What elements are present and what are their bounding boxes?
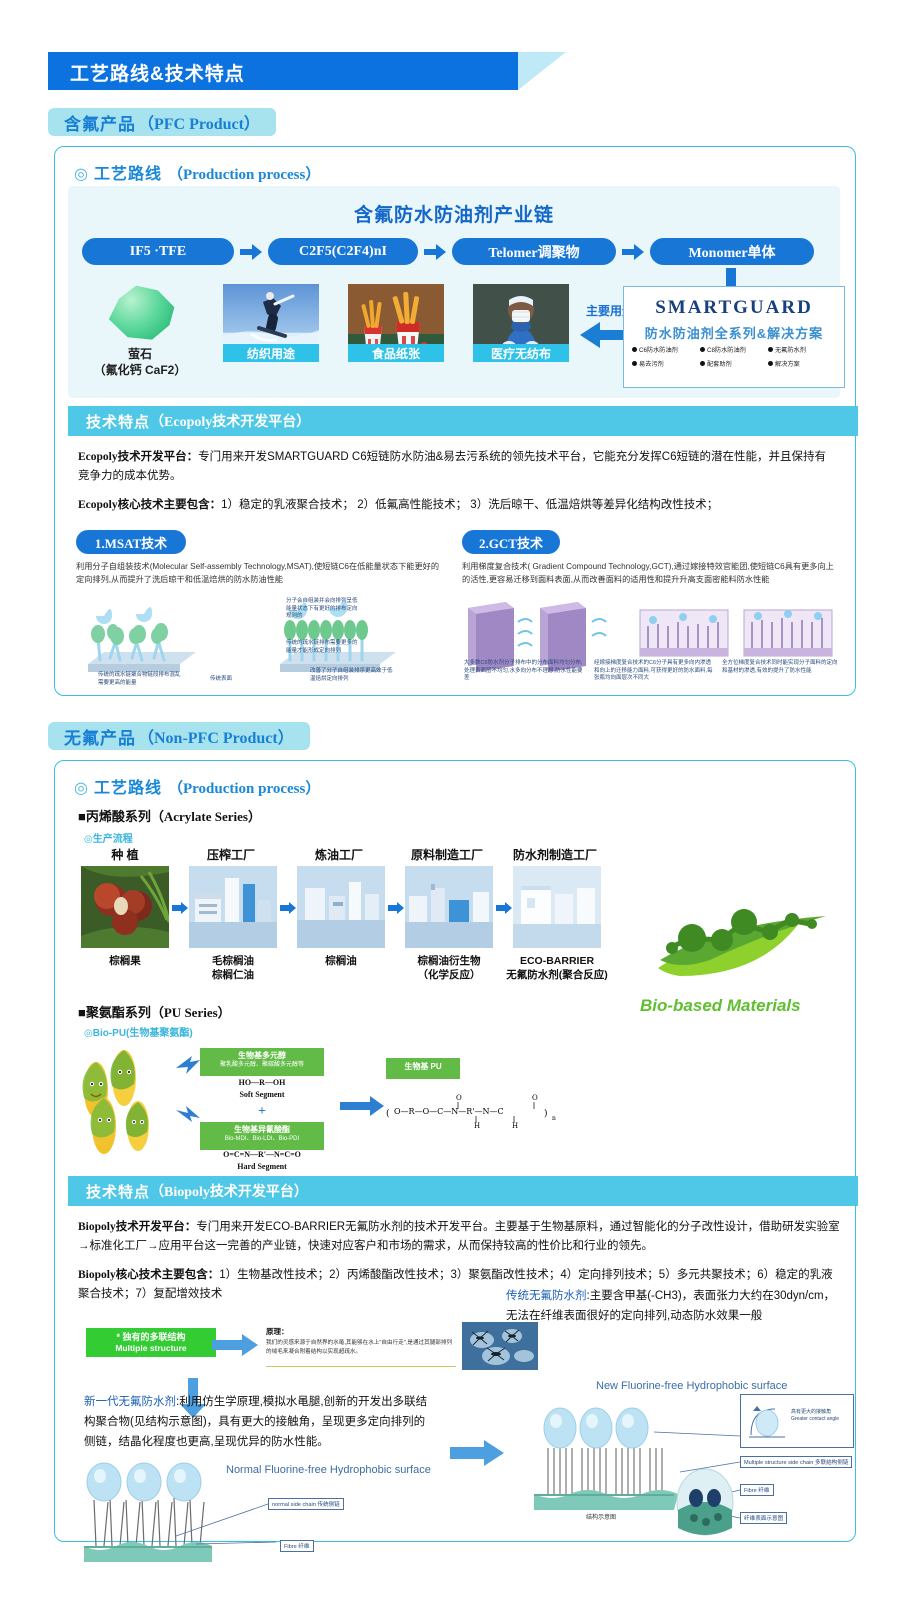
pu-green-box-isocyanate-title: 生物基异氰酸酯 <box>200 1124 324 1135</box>
multiple-structure-badge: * 独有的多联结构 Multiple structure <box>86 1328 216 1357</box>
use-tile-textile[interactable]: 纺织用途 <box>223 284 319 362</box>
svg-text:n: n <box>552 1115 556 1122</box>
raw-material-factory-photo <box>405 866 493 948</box>
stage-arrow-2-icon <box>280 902 296 914</box>
pu-green-box-polyol: 生物基多元醇 聚乳酸多元醇、聚碳酸多元醇等 <box>200 1048 324 1076</box>
biopoly-strip-header: 技术特点 （Biopoly技术开发平台） <box>68 1176 858 1206</box>
poster-page: 工艺路线&技术特点 含氟产品 （PFC Product） ◎ 工艺路线 （Pro… <box>0 0 908 1600</box>
msat-pill[interactable]: 1.MSAT技术 <box>76 530 186 554</box>
msat-description: 利用分子自组装技术(Molecular Self-assembly Techno… <box>76 560 446 586</box>
section-pill-pfc: 含氟产品 （PFC Product） <box>48 108 276 136</box>
smartguard-title: SMARTGUARD <box>624 297 844 319</box>
svg-text:): ) <box>544 1108 548 1119</box>
stage-arrow-3-icon <box>388 902 404 914</box>
smartguard-item-label: 无氟防水剂 <box>775 345 806 354</box>
pfc-process-heading-en: （Production process） <box>168 163 320 184</box>
smartguard-box: SMARTGUARD 防水防油剂全系列&解决方案 C6防水防油剂 C8防水防油剂… <box>623 286 845 388</box>
stage-image-raw-material-factory <box>405 866 493 948</box>
new-surface-label: New Fluorine-free Hydrophobic surface <box>596 1380 787 1392</box>
palm-fruit-photo <box>81 866 169 948</box>
section-pill-nonpfc-en: （Non-PFC Product） <box>138 724 294 748</box>
flow-arrow-1-icon <box>240 244 262 260</box>
flow-step-3[interactable]: Telomer调聚物 <box>452 238 616 265</box>
gct-annot-2: 经嫁接梯度复合技术的C6分子具有更多向内渗透和向上的迁移能力面料,可获得更好的防… <box>594 660 714 683</box>
smartguard-item: C8防水防油剂 <box>700 345 768 354</box>
traditional-agent-text: 传统无氟防水剂:主要含甲基(-CH3)，表面张力大约在30dyn/cm，无法在纤… <box>506 1286 836 1326</box>
nonpfc-process-heading-en: （Production process） <box>168 777 320 798</box>
traditional-agent-title: 传统无氟防水剂 <box>506 1290 587 1302</box>
pfc-process-box: 含氟防水防油剂产业链 IF5 ·TFE C2F5(C2F4)nI Telomer… <box>68 186 840 398</box>
flow-step-1[interactable]: IF5 ·TFE <box>82 238 234 265</box>
stage-image-press-factory <box>189 866 277 948</box>
use-tile-medical-caption: 医疗无纺布 <box>473 344 569 362</box>
smartguard-item: 配套助剂 <box>700 359 768 368</box>
biopoly-paragraph-1: Biopoly技术开发平台：专门用来开发ECO-BARRIER无氟防水剂的技术开… <box>78 1218 842 1256</box>
smartguard-item: 易去污剂 <box>632 359 700 368</box>
smartguard-item-label: 配套助剂 <box>707 359 732 368</box>
refinery-photo <box>297 866 385 948</box>
acrylate-heading: ■丙烯酸系列（Acrylate Series） <box>78 806 261 825</box>
normal-side-chain-label: normal side chain 传统侧链 <box>268 1498 344 1510</box>
svg-text:(: ( <box>386 1108 390 1119</box>
pu-heading-cn: ■聚氨酯系列 <box>78 1005 151 1020</box>
flow-step-4[interactable]: Monomer单体 <box>650 238 814 265</box>
normal-surface-connectors <box>176 1492 276 1546</box>
pu-hard-formula: O=C=N—R'—N=C=O <box>186 1150 338 1159</box>
acrylate-heading-en: （Acrylate Series） <box>151 809 261 824</box>
pu-arrow-3-icon <box>340 1096 384 1116</box>
svg-text:O—R—O—C—N—R'—N—C: O—R—O—C—N—R'—N—C <box>394 1107 504 1116</box>
ecopoly-paragraph-1-bold: Ecopoly技术开发平台： <box>78 451 198 463</box>
gct-annot-3: 全方位梯度复合技术同时能实现分子面料的定向和基材的渗透,有效的提升了防水性能 <box>722 660 840 675</box>
nonpfc-process-heading: ◎ 工艺路线 （Production process） <box>74 774 320 798</box>
stage-caption-2-line2: 棕榈仁油 <box>173 968 293 982</box>
stage-arrow-4-icon <box>496 902 512 914</box>
section-pill-pfc-en: （PFC Product） <box>138 110 260 134</box>
chain-title: 含氟防水防油剂产业链 <box>68 200 840 227</box>
use-tile-food-caption: 食品纸张 <box>348 344 444 362</box>
contact-angle-icon <box>747 1401 787 1439</box>
stage-caption-5-line2: 无氟防水剂(聚合反应) <box>492 968 622 982</box>
smartguard-item: 无氟防水剂 <box>768 345 836 354</box>
multi-side-chain-label: Multiple structure side chain 多联结构侧链 <box>740 1456 852 1468</box>
smartguard-item-list: C6防水防油剂 C8防水防油剂 无氟防水剂 易去污剂 配套助剂 解决方案 <box>632 345 836 373</box>
pu-plus-sign: + <box>200 1104 324 1120</box>
use-tile-medical[interactable]: 医疗无纺布 <box>473 284 569 362</box>
smartguard-item-label: C6防水防油剂 <box>639 345 678 354</box>
msat-annot-mid-bottom: 传统表面 <box>210 676 260 684</box>
page-banner: 工艺路线&技术特点 <box>48 52 518 90</box>
ecopoly-paragraph-2-body: 1）稳定的乳液聚合技术； 2）低氟高性能技术； 3）洗后晾干、低温焙烘等差异化结… <box>221 499 718 511</box>
stage-label-5: 防水剂制造工厂 <box>500 846 610 863</box>
waterproof-factory-photo <box>513 866 601 948</box>
fibre-surface-micrograph <box>676 1468 734 1536</box>
stage-caption-1-line1: 棕榈果 <box>65 954 185 968</box>
ecopoly-strip-cn: 技术特点 <box>86 411 150 432</box>
flow-step-2[interactable]: C2F5(C2F4)nI <box>268 238 418 265</box>
ecopoly-strip-header: 技术特点 （Ecopoly技术开发平台） <box>68 406 858 436</box>
stage-caption-2-line1: 毛棕榈油 <box>173 954 293 968</box>
stage-caption-3-line1: 棕榈油 <box>281 954 401 968</box>
stage-label-3: 炼油工厂 <box>284 846 394 863</box>
contact-angle-callout: 高有更大的接触角 Greater contact angle <box>740 1394 854 1448</box>
principle-body: 我们的灵感来源于自然界的水黾,其能够在水上"自由行走",是通过其腿部排列的绒毛来… <box>266 1339 456 1356</box>
use-tile-food[interactable]: 食品纸张 <box>348 284 444 362</box>
pu-green-box-biopu-title: 生物基 PU <box>386 1061 460 1072</box>
fluorite-label-line1: 萤石 <box>70 346 210 362</box>
nonpfc-process-heading-cn: 工艺路线 <box>94 774 162 798</box>
ring-icon: ◎ <box>74 778 88 798</box>
pu-heading-en: （PU Series） <box>151 1005 231 1020</box>
use-tile-textile-caption: 纺织用途 <box>223 344 319 362</box>
section-pill-pfc-cn: 含氟产品 <box>64 110 136 135</box>
structure-diagram-label: 结构示意图 <box>586 1512 616 1521</box>
stage-caption-5-line1: ECO-BARRIER <box>497 954 617 968</box>
pu-green-box-biopu: 生物基 PU <box>386 1058 460 1079</box>
biopoly-strip-en: （Biopoly技术开发平台） <box>150 1181 308 1201</box>
stage-caption-4-line1: 棕榈油衍生物 <box>389 954 509 968</box>
bio-based-logo-icon <box>650 880 850 990</box>
stage-label-4: 原料制造工厂 <box>392 846 502 863</box>
acrylate-subheading: ◎生产流程 <box>84 830 133 845</box>
surface-compare-arrow-icon <box>450 1440 504 1466</box>
smartguard-subtitle: 防水防油剂全系列&解决方案 <box>624 323 844 342</box>
pu-arrow-1-icon <box>176 1054 200 1074</box>
pu-green-box-isocyanate: 生物基异氰酸酯 Bio-MDI、Bio-LDI、Bio-PDI <box>200 1122 324 1150</box>
pu-green-box-polyol-sub: 聚乳酸多元醇、聚碳酸多元醇等 <box>200 1061 324 1070</box>
principle-arrow-icon <box>212 1334 258 1356</box>
fluorite-mineral-image <box>106 282 178 342</box>
smartguard-item: 解决方案 <box>768 359 836 368</box>
stage-image-refinery <box>297 866 385 948</box>
msat-annot-left-bottom: 传统的疏水链聚合物链段排布混乱需要更高的能量 <box>98 672 182 687</box>
stage-image-waterproof-factory <box>513 866 601 948</box>
biopoly-strip-cn: 技术特点 <box>86 1181 150 1202</box>
principle-underline <box>266 1366 456 1367</box>
flow-arrow-3-icon <box>622 244 644 260</box>
principle-block: 原理： 我们的灵感来源于自然界的水黾,其能够在水上"自由行走",是通过其腿部排列… <box>266 1326 456 1356</box>
gct-annot-1: 大多数C6防水剂分子排布中的分布面料均匀分布,处理表面层不均匀,水多向分布不理想… <box>464 660 584 683</box>
pu-green-box-isocyanate-sub: Bio-MDI、Bio-LDI、Bio-PDI <box>200 1135 324 1144</box>
multiple-structure-badge-line2: Multiple structure <box>92 1343 210 1354</box>
pfc-process-heading: ◎ 工艺路线 （Production process） <box>74 160 320 184</box>
stage-label-1: 种 植 <box>70 846 180 863</box>
biopoly-paragraph-1-bold: Biopoly技术开发平台： <box>78 1221 196 1233</box>
ecopoly-paragraph-1: Ecopoly技术开发平台：专门用来开发SMARTGUARD C6短链防水防油&… <box>78 448 834 486</box>
fluorite-label-line2: （氟化钙 CaF2） <box>70 362 210 378</box>
smartguard-item-label: C8防水防油剂 <box>707 345 746 354</box>
stage-image-palm-fruit <box>81 866 169 948</box>
section-pill-nonpfc: 无氟产品 （Non-PFC Product） <box>48 722 310 750</box>
stage-label-2: 压榨工厂 <box>176 846 286 863</box>
pu-soft-formula: HO—R—OH <box>200 1078 324 1087</box>
smartguard-item-label: 易去污剂 <box>639 359 664 368</box>
new-generation-title: 新一代无氟防水剂 <box>84 1396 176 1408</box>
stage-caption-4-line2: （化学反应） <box>389 968 509 982</box>
water-strider-photo <box>462 1322 538 1370</box>
ecopoly-strip-en: （Ecopoly技术开发平台） <box>150 411 310 431</box>
ecopoly-paragraph-2-bold: Ecopoly核心技术主要包含： <box>78 499 221 511</box>
contact-angle-label-line2: Greater contact angle <box>791 1416 839 1423</box>
contact-angle-label-line1: 高有更大的接触角 <box>791 1409 839 1416</box>
svg-text:H: H <box>512 1122 518 1130</box>
principle-title: 原理： <box>266 1326 456 1337</box>
smartguard-item-label: 解决方案 <box>775 359 800 368</box>
page-title: 工艺路线&技术特点 <box>70 59 245 86</box>
multiple-structure-badge-line1: * 独有的多联结构 <box>92 1331 210 1343</box>
section-pill-nonpfc-cn: 无氟产品 <box>64 724 136 749</box>
banner-tail-decoration <box>518 52 566 90</box>
svg-text:O: O <box>532 1094 538 1102</box>
new-generation-text: 新一代无氟防水剂:利用仿生学原理,模拟水黾腿,创新的开发出多联结构聚合物(见结构… <box>84 1392 434 1452</box>
biopoly-paragraph-2-bold: Biopoly核心技术主要包含： <box>78 1269 219 1281</box>
gct-description: 利用梯度复合技术( Gradient Compound Technology,G… <box>462 560 842 586</box>
fibre-label: Fibre 纤维 <box>280 1540 314 1552</box>
pfc-process-heading-cn: 工艺路线 <box>94 160 162 184</box>
pu-heading: ■聚氨酯系列（PU Series） <box>78 1002 231 1021</box>
pu-hard-label: Hard Segment <box>186 1162 338 1171</box>
msat-annot-right-bottom: 改善了分子自组装排序更高效于低温焙烘定向排列 <box>310 668 396 683</box>
flow-arrow-2-icon <box>424 244 446 260</box>
msat-annot-right-top: 分子会自组装并会向排列呈低能量状态下有更好的排布定向规则的 <box>286 598 362 621</box>
smartguard-item: C6防水防油剂 <box>632 345 700 354</box>
press-factory-photo <box>189 866 277 948</box>
gct-pill[interactable]: 2.GCT技术 <box>462 530 560 554</box>
pu-arrow-2-icon <box>176 1106 200 1126</box>
svg-text:O: O <box>456 1094 462 1102</box>
pu-green-box-polyol-title: 生物基多元醇 <box>200 1050 324 1061</box>
stage-arrow-1-icon <box>172 902 188 914</box>
pu-subheading: ◎Bio-PU(生物基聚氨酯) <box>84 1024 193 1039</box>
pu-polymer-structure: ( O—R—O—C—N—R'—N—C ) n O O H H <box>382 1082 562 1138</box>
acrylate-heading-cn: ■丙烯酸系列 <box>78 809 151 824</box>
bio-based-logo-text: Bio-based Materials <box>640 996 801 1016</box>
msat-annot-right-mid: 传统的疏水链排布需要更多的能量才能形成定向排列 <box>286 640 362 655</box>
ecopoly-paragraph-2: Ecopoly核心技术主要包含：1）稳定的乳液聚合技术； 2）低氟高性能技术； … <box>78 496 868 515</box>
svg-text:H: H <box>474 1122 480 1130</box>
corn-illustration <box>74 1040 184 1160</box>
ring-icon: ◎ <box>74 164 88 184</box>
pu-soft-label: Soft Segment <box>200 1090 324 1099</box>
